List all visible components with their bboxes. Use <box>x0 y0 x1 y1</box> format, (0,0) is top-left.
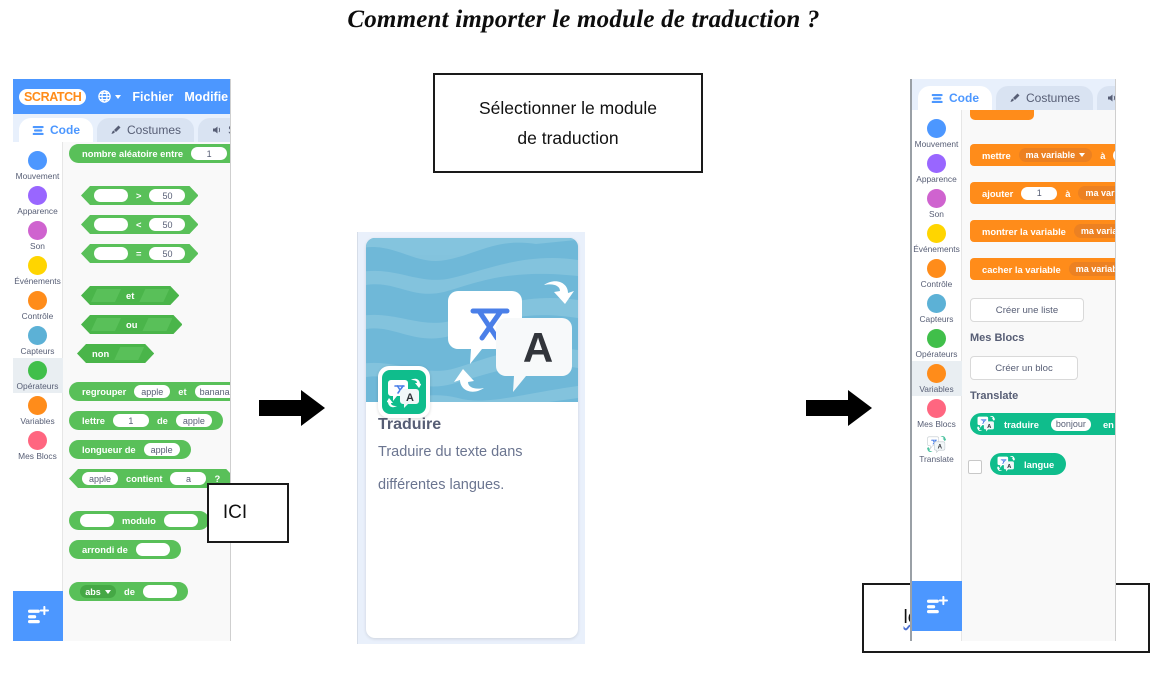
category-dot <box>927 259 946 278</box>
block-traduire[interactable]: A traduire bonjour en <box>970 413 1115 435</box>
brush-icon <box>1009 92 1021 104</box>
block-longueur-de[interactable]: longueur de apple <box>69 440 191 459</box>
sidebar-item-mouvement[interactable]: Mouvement <box>13 148 63 183</box>
brush-icon <box>110 124 122 136</box>
category-label: Mes Blocs <box>917 419 956 429</box>
block-palette-right[interactable]: mettre ma variable à 0 ajouter 1 à ma va… <box>962 110 1115 641</box>
category-dot <box>28 291 47 310</box>
block-non[interactable]: non <box>77 344 154 363</box>
category-dot <box>28 396 47 415</box>
code-icon <box>32 125 45 136</box>
input-slot[interactable]: 0 <box>1113 149 1115 162</box>
block-abs-de[interactable]: abs de <box>69 582 188 601</box>
code-icon <box>931 93 944 104</box>
input-slot[interactable] <box>94 218 128 231</box>
chevron-down-icon <box>105 590 111 594</box>
translate-icon: A <box>382 370 426 414</box>
callout-select-module: Sélectionner le module de traduction <box>433 73 703 173</box>
category-dot <box>28 221 47 240</box>
section-translate: Translate <box>970 390 1018 402</box>
sidebar-item-variables[interactable]: Variables <box>912 361 962 396</box>
sidebar-item-evenements[interactable]: Événements <box>912 221 962 256</box>
extension-card-title: Traduire <box>378 416 566 434</box>
tab-costumes[interactable]: Costumes <box>97 118 194 142</box>
block-ou[interactable]: ou <box>81 315 182 334</box>
block-palette-left[interactable]: nombre aléatoire entre 1 et 10 > 50 < 50 <box>63 142 230 641</box>
sidebar-item-variables[interactable]: Variables <box>13 393 63 428</box>
input-slot[interactable]: 1 <box>1021 187 1057 200</box>
extension-card-description: Traduire du texte dans différentes langu… <box>378 436 566 502</box>
svg-text:A: A <box>406 392 414 404</box>
category-label: Apparence <box>17 206 58 216</box>
variable-dropdown[interactable]: ma variable <box>1019 148 1093 162</box>
sound-icon <box>211 124 223 136</box>
right-arrow-icon <box>259 388 325 428</box>
category-label: Mes Blocs <box>18 451 57 461</box>
category-label: Variables <box>20 416 54 426</box>
category-list-right: Mouvement Apparence Son Événements Contr… <box>912 110 962 641</box>
category-label: Contrôle <box>22 311 54 321</box>
sidebar-item-mouvement[interactable]: Mouvement <box>912 116 962 151</box>
tab-code[interactable]: Code <box>918 86 992 110</box>
arrow-right-1 <box>259 388 325 428</box>
category-dot <box>28 186 47 205</box>
extension-card-badge: A <box>378 366 430 418</box>
slide-canvas: Comment importer le module de traduction… <box>0 0 1167 680</box>
chevron-down-icon <box>115 95 121 99</box>
category-dot <box>927 154 946 173</box>
input-slot[interactable]: 1 <box>191 147 227 160</box>
sidebar-item-operateurs[interactable]: Opérateurs <box>13 358 63 393</box>
tab-code-label: Code <box>50 123 80 137</box>
block-et[interactable]: et <box>81 286 179 305</box>
category-label: Mouvement <box>915 139 959 149</box>
callout-select-line2: de traduction <box>479 123 657 153</box>
sidebar-item-evenements[interactable]: Événements <box>13 253 63 288</box>
category-label: Opérateurs <box>17 381 59 391</box>
block-partial-top[interactable] <box>970 110 1034 120</box>
block-greater-than[interactable]: > 50 <box>81 186 198 205</box>
input-slot[interactable] <box>143 585 177 598</box>
tab-costumes-label: Costumes <box>127 123 181 137</box>
input-slot[interactable]: banana <box>195 385 230 398</box>
category-list-left: Mouvement Apparence Son Événements Contr… <box>13 142 63 641</box>
sidebar-item-mes-blocs[interactable]: Mes Blocs <box>13 428 63 463</box>
category-dot <box>927 224 946 243</box>
sidebar-item-capteurs[interactable]: Capteurs <box>13 323 63 358</box>
category-dot <box>28 151 47 170</box>
menu-fichier[interactable]: Fichier <box>132 90 173 104</box>
extension-card-traduire[interactable]: A A <box>366 238 578 638</box>
category-dot <box>927 399 946 418</box>
creer-un-bloc-button[interactable]: Créer un bloc <box>970 356 1078 380</box>
input-slot[interactable]: apple <box>134 385 170 398</box>
scratch-logo-text: SCRATCH <box>24 90 81 104</box>
tab-costumes[interactable]: Costumes <box>996 86 1093 110</box>
category-label: Capteurs <box>920 314 954 324</box>
add-extension-icon <box>27 606 49 626</box>
arrow-right-2 <box>806 388 872 428</box>
sidebar-item-son[interactable]: Son <box>912 186 962 221</box>
language-reporter-checkbox[interactable] <box>968 460 982 474</box>
globe-icon[interactable] <box>97 89 121 104</box>
sidebar-item-controle[interactable]: Contrôle <box>912 256 962 291</box>
block-langue[interactable]: A langue <box>990 453 1066 475</box>
callout-ici: ICI <box>207 483 289 543</box>
tab-sons[interactable]: So <box>198 118 231 142</box>
block-equals[interactable]: = 50 <box>81 244 198 263</box>
creer-une-liste-button[interactable]: Créer une liste <box>970 298 1084 322</box>
callout-ici-text: ICI <box>223 502 247 524</box>
sidebar-item-mes-blocs[interactable]: Mes Blocs <box>912 396 962 431</box>
input-slot[interactable] <box>80 514 114 527</box>
category-dot <box>28 361 47 380</box>
right-arrow-icon <box>806 388 872 428</box>
variable-dropdown[interactable]: ma variable <box>1078 186 1115 200</box>
scratch-tabbar-left: Code Costumes So <box>13 114 230 142</box>
add-extension-button-right[interactable] <box>912 581 962 631</box>
extension-library-panel: A A <box>357 232 585 644</box>
callout-select-line1: Sélectionner le module <box>479 93 657 123</box>
category-label: Capteurs <box>21 346 55 356</box>
tab-sons-label: So <box>228 123 231 137</box>
input-slot[interactable]: apple <box>176 414 212 427</box>
block-less-than[interactable]: < 50 <box>81 215 198 234</box>
input-slot[interactable] <box>94 247 128 260</box>
category-dot <box>927 364 946 383</box>
block-contient[interactable]: apple contient a ? <box>69 469 230 488</box>
category-dot <box>927 329 946 348</box>
variable-dropdown[interactable]: ma variable <box>1074 224 1115 238</box>
input-slot[interactable] <box>164 514 198 527</box>
input-slot[interactable]: a <box>170 472 206 485</box>
category-label: Son <box>30 241 45 251</box>
scratch-logo: SCRATCH <box>19 89 86 105</box>
section-mes-blocs: Mes Blocs <box>970 332 1024 344</box>
category-dot <box>28 256 47 275</box>
category-label: Son <box>929 209 944 219</box>
scratch-menubar-left: SCRATCH Fichier Modifie <box>13 79 230 114</box>
category-dot <box>28 431 47 450</box>
category-label: Translate <box>919 454 954 464</box>
tab-costumes-label: Costumes <box>1026 91 1080 105</box>
palette-wrapper-left: Mouvement Apparence Son Événements Contr… <box>13 142 230 641</box>
block-mettre-variable[interactable]: mettre ma variable à 0 <box>970 144 1115 166</box>
input-slot[interactable]: 50 <box>149 247 185 260</box>
category-label: Contrôle <box>921 279 953 289</box>
input-slot[interactable] <box>94 189 128 202</box>
menu-modifier[interactable]: Modifie <box>184 90 228 104</box>
block-ajouter-variable[interactable]: ajouter 1 à ma variable <box>970 182 1115 204</box>
category-label: Événements <box>14 276 61 286</box>
input-slot[interactable]: apple <box>144 443 180 456</box>
translate-icon: A <box>997 454 1015 474</box>
block-modulo[interactable]: modulo <box>69 511 209 530</box>
svg-text:A: A <box>523 324 553 371</box>
translate-icon: A <box>977 414 995 434</box>
sidebar-item-apparence[interactable]: Apparence <box>912 151 962 186</box>
block-arrondi-de[interactable]: arrondi de <box>69 540 181 559</box>
variable-dropdown[interactable]: ma variable <box>1069 262 1115 276</box>
sidebar-item-capteurs[interactable]: Capteurs <box>912 291 962 326</box>
input-slot[interactable] <box>136 543 170 556</box>
sidebar-item-son[interactable]: Son <box>13 218 63 253</box>
category-dot <box>28 326 47 345</box>
category-label: Variables <box>919 384 953 394</box>
mathop-function[interactable]: abs <box>85 587 101 597</box>
category-dot <box>927 189 946 208</box>
svg-text:A: A <box>938 444 943 451</box>
category-label: Mouvement <box>16 171 60 181</box>
page-title: Comment importer le module de traduction… <box>0 6 1167 34</box>
category-dot <box>927 119 946 138</box>
block-nombre-aleatoire[interactable]: nombre aléatoire entre 1 et 10 <box>69 144 230 163</box>
add-extension-button-left[interactable] <box>13 591 63 641</box>
sidebar-item-apparence[interactable]: Apparence <box>13 183 63 218</box>
palette-wrapper-right: Mouvement Apparence Son Événements Contr… <box>912 110 1115 641</box>
input-slot[interactable]: 1 <box>113 414 149 427</box>
block-regrouper[interactable]: regrouper apple et banana <box>69 382 230 401</box>
scratch-editor-right: Code Costumes Mouvement Apparence Son Év… <box>910 79 1116 641</box>
category-label: Événements <box>913 244 960 254</box>
input-slot[interactable]: apple <box>82 472 118 485</box>
scratch-tabbar-right: Code Costumes <box>912 79 1115 110</box>
tab-sons[interactable] <box>1097 86 1116 110</box>
block-cacher-variable[interactable]: cacher la variable ma variable <box>970 258 1115 280</box>
tab-code[interactable]: Code <box>19 118 93 142</box>
sidebar-item-operateurs[interactable]: Opérateurs <box>912 326 962 361</box>
category-label: Opérateurs <box>916 349 958 359</box>
block-montrer-variable[interactable]: montrer la variable ma variable <box>970 220 1115 242</box>
block-lettre[interactable]: lettre 1 de apple <box>69 411 223 430</box>
category-dot <box>927 294 946 313</box>
sound-icon <box>1106 92 1116 104</box>
translate-icon: A <box>927 434 946 453</box>
scratch-editor-left: SCRATCH Fichier Modifie Code Costumes <box>13 79 231 641</box>
tab-code-label: Code <box>949 91 979 105</box>
category-label: Apparence <box>916 174 957 184</box>
input-slot[interactable]: 50 <box>149 218 185 231</box>
sidebar-item-translate[interactable]: A Translate <box>912 431 962 466</box>
add-extension-icon <box>926 596 948 616</box>
input-slot[interactable]: bonjour <box>1051 418 1091 431</box>
sidebar-item-controle[interactable]: Contrôle <box>13 288 63 323</box>
input-slot[interactable]: 50 <box>149 189 185 202</box>
